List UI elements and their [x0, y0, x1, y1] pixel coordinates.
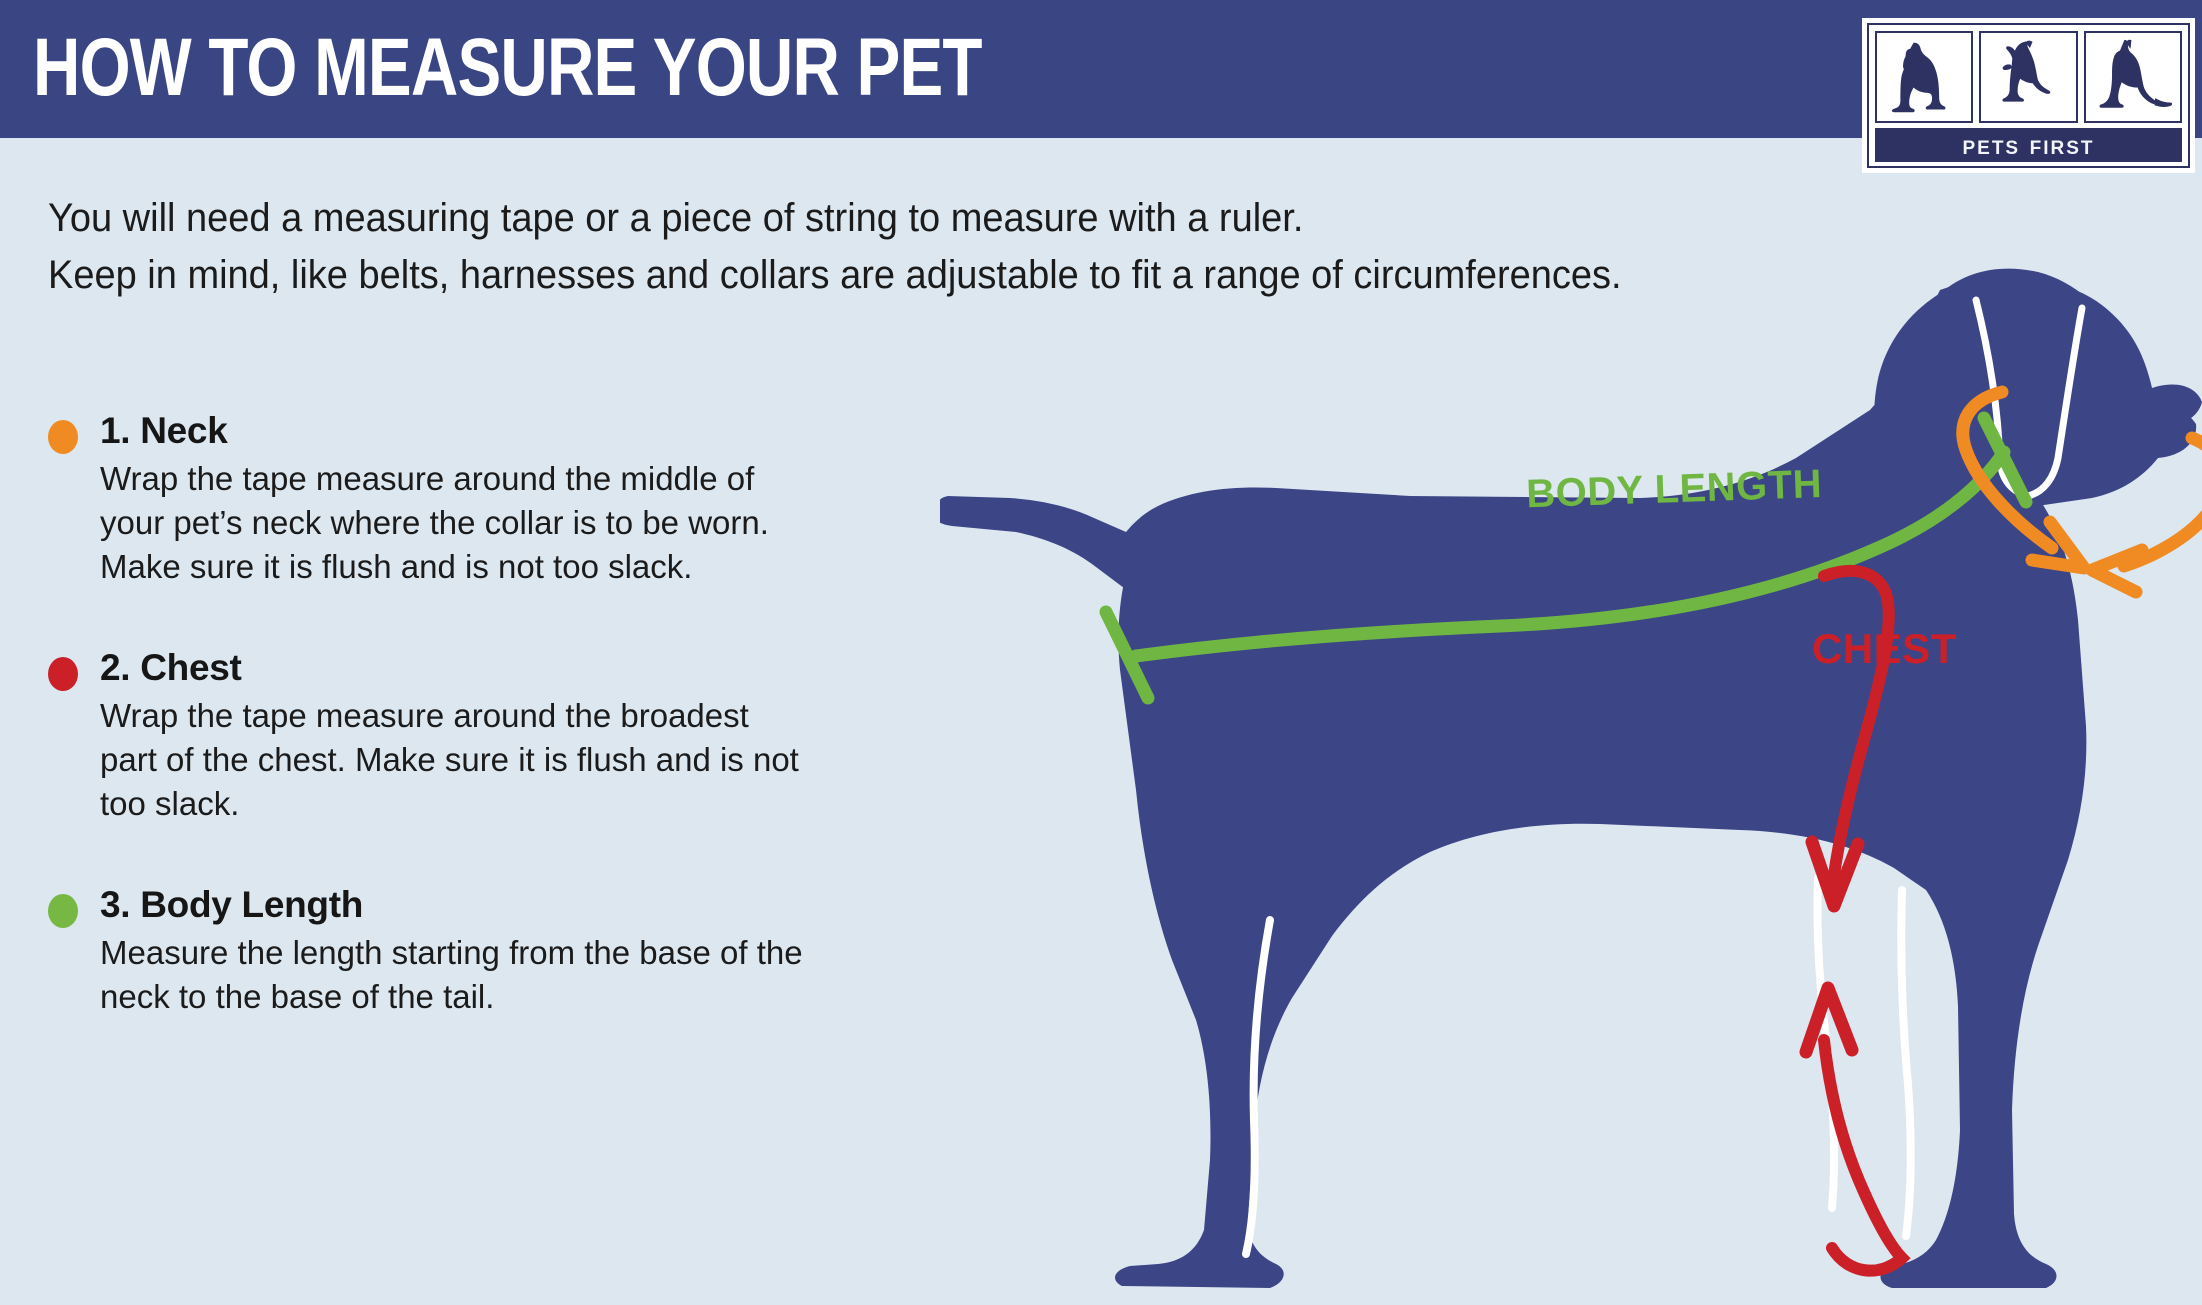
step-body-body-length: Measure the length starting from the bas… [100, 931, 748, 1019]
infographic-page: HOW TO MEASURE YOUR PET [0, 0, 2202, 1305]
bullet-chest [48, 657, 78, 691]
bullet-body-length [48, 894, 78, 928]
logo-dog-sitting-icon [1875, 31, 1973, 123]
step-body-line: Wrap the tape measure around the broades… [100, 694, 748, 738]
step-item-neck: 1. Neck Wrap the tape measure around the… [48, 408, 748, 589]
logo-panels [1875, 31, 2182, 123]
step-body-line: Make sure it is flush and is not too sla… [100, 545, 748, 589]
step-body-neck: Wrap the tape measure around the middle … [100, 457, 748, 589]
label-chest: CHEST [1812, 625, 1957, 673]
step-body-line: neck to the base of the tail. [100, 975, 748, 1019]
step-title-neck: 1. Neck [100, 408, 748, 453]
step-body-line: Wrap the tape measure around the middle … [100, 457, 748, 501]
step-body-line: too slack. [100, 782, 748, 826]
step-body-line: part of the chest. Make sure it is flush… [100, 738, 748, 782]
dog-measurement-diagram [940, 230, 2202, 1305]
step-item-body-length: 3. Body Length Measure the length starti… [48, 882, 748, 1019]
logo-wordmark: Pets First [1875, 128, 2182, 162]
step-body-line: your pet’s neck where the collar is to b… [100, 501, 748, 545]
dog-tail [940, 506, 1136, 594]
logo-frame: Pets First [1867, 23, 2190, 168]
step-title-body-length: 3. Body Length [100, 882, 748, 927]
page-title: HOW TO MEASURE YOUR PET [33, 22, 982, 114]
step-body-chest: Wrap the tape measure around the broades… [100, 694, 748, 826]
logo-dog-begging-icon [1979, 31, 2077, 123]
dog-front-leg-detail [1901, 890, 1911, 1236]
bullet-neck [48, 420, 78, 454]
step-item-chest: 2. Chest Wrap the tape measure around th… [48, 645, 748, 826]
logo-dog-shepherd-icon [2084, 31, 2182, 123]
step-title-chest: 2. Chest [100, 645, 748, 690]
step-body-line: Measure the length starting from the bas… [100, 931, 748, 975]
pets-first-logo: Pets First [1862, 18, 2195, 173]
measurement-steps-list: 1. Neck Wrap the tape measure around the… [48, 408, 748, 1075]
